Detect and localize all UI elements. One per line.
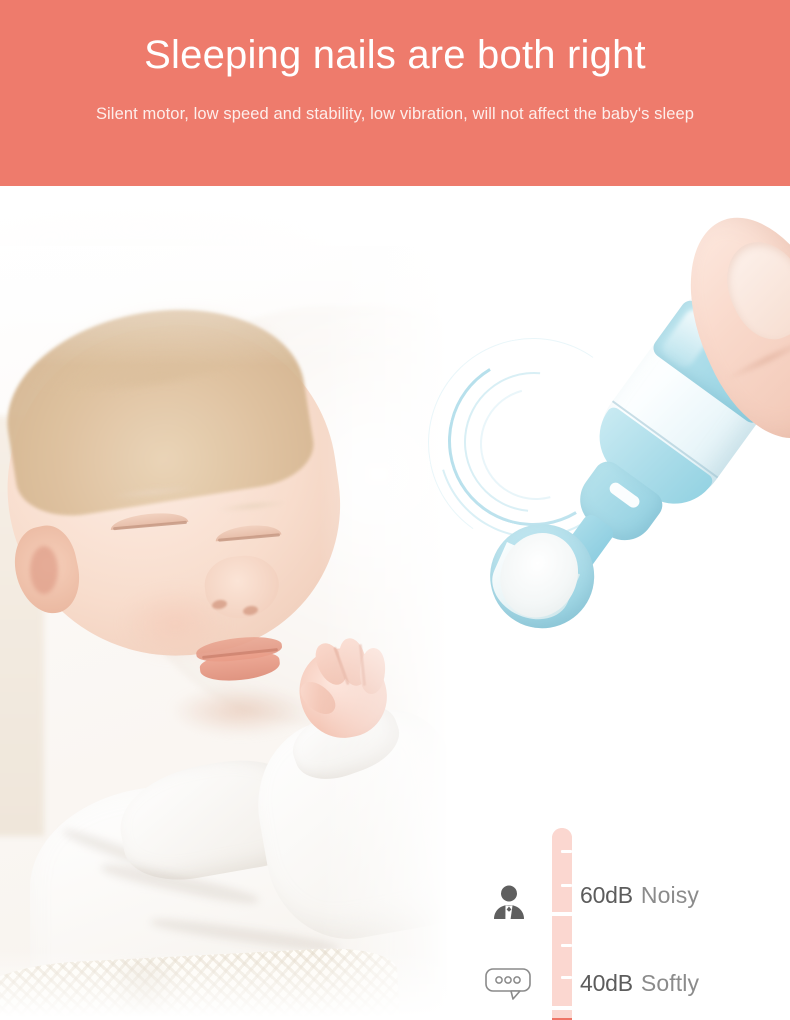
bar-tick: [561, 884, 572, 887]
decibel-bar-light-segment: [552, 828, 572, 1020]
sleeping-baby-photo: [0, 186, 470, 1020]
bar-tick-major: [552, 1006, 572, 1010]
decibel-row-noisy: 60dB Noisy: [580, 878, 790, 912]
nail-polisher-device: [430, 246, 790, 606]
decibel-row-softly: 40dB Softly: [580, 966, 790, 1000]
bar-tick-major: [552, 912, 572, 916]
baby-chin-shadow: [170, 686, 310, 736]
header-banner: Sleeping nails are both right Silent mot…: [0, 0, 790, 186]
baby-ear-inner: [30, 546, 58, 594]
decibel-row-polisher: 35dB Polisher: [559, 1016, 790, 1020]
person-icon: [478, 876, 540, 928]
bar-tick: [561, 944, 572, 947]
decibel-label: Softly: [641, 970, 699, 997]
decibel-scale: 60dB Noisy 40dB Softly 35dB Polisher 20d…: [470, 816, 790, 1020]
decibel-label: Noisy: [641, 882, 699, 909]
page-title: Sleeping nails are both right: [144, 33, 646, 77]
photo-fade-bottom: [0, 950, 470, 1020]
page-subtitle: Silent motor, low speed and stability, l…: [96, 105, 694, 124]
bar-tick: [561, 850, 572, 853]
content-stage: 60dB Noisy 40dB Softly 35dB Polisher 20d…: [0, 186, 790, 1020]
decibel-bar: [552, 828, 572, 1020]
decibel-bar-top-cap: [552, 828, 572, 848]
speech-bubble-icon: [478, 958, 540, 1010]
bar-tick: [561, 976, 572, 979]
decibel-value: 40dB: [580, 970, 633, 997]
decibel-value: 60dB: [580, 882, 633, 909]
decibel-label-column: 60dB Noisy 40dB Softly 35dB Polisher 20d…: [580, 816, 790, 1020]
decibel-icon-column: [470, 816, 545, 1020]
